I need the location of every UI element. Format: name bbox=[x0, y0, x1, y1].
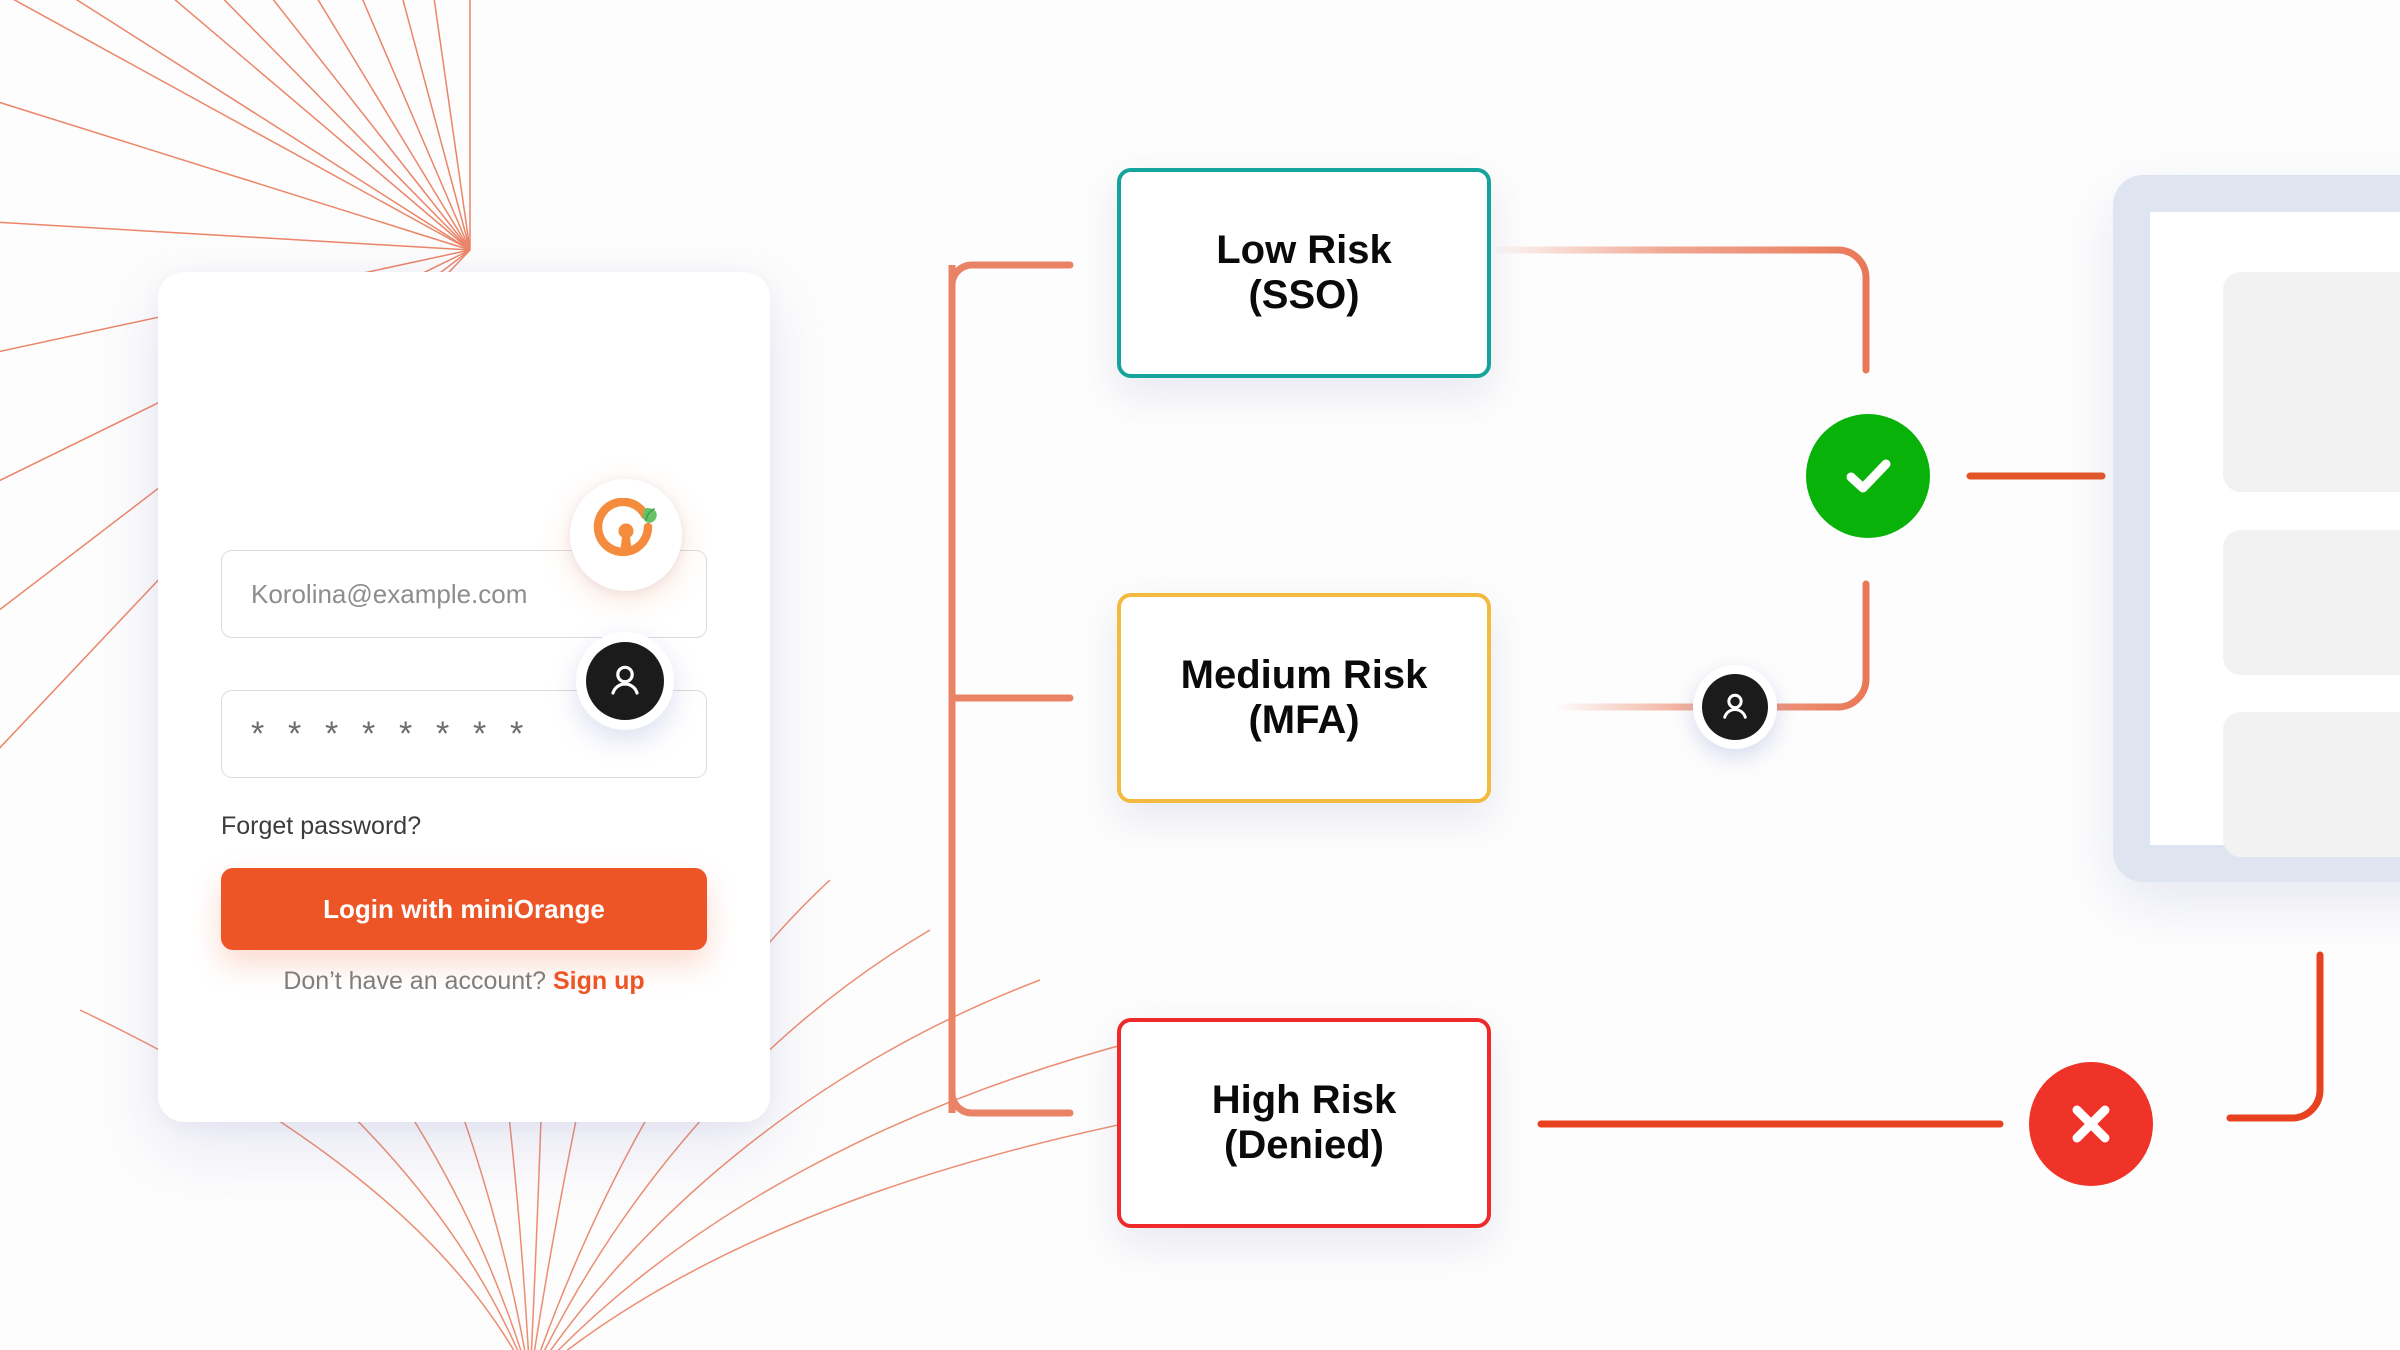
risk-box-medium-title: Medium Risk bbox=[1181, 653, 1428, 698]
signup-link[interactable]: Sign up bbox=[553, 967, 645, 995]
miniorange-keyhole-logo-icon bbox=[589, 498, 663, 572]
status-allowed-badge bbox=[1806, 414, 1930, 538]
status-denied-badge bbox=[2029, 1062, 2153, 1186]
risk-box-high-subtitle: (Denied) bbox=[1224, 1123, 1384, 1168]
target-application-device bbox=[2113, 175, 2400, 882]
device-screen bbox=[2150, 212, 2400, 845]
user-avatar-icon bbox=[604, 660, 646, 702]
device-content-block bbox=[2223, 272, 2400, 492]
signup-prompt-text: Don’t have an account? bbox=[283, 967, 546, 995]
forgot-password-link[interactable]: Forget password? bbox=[221, 812, 421, 841]
risk-box-medium[interactable]: Medium Risk (MFA) bbox=[1117, 593, 1491, 803]
password-mask: **** **** bbox=[251, 717, 547, 751]
close-x-icon bbox=[2061, 1094, 2121, 1154]
risk-box-high[interactable]: High Risk (Denied) bbox=[1117, 1018, 1491, 1228]
risk-box-medium-subtitle: (MFA) bbox=[1248, 698, 1359, 743]
user-avatar-badge bbox=[576, 632, 674, 730]
risk-box-high-title: High Risk bbox=[1212, 1078, 1396, 1123]
miniorange-logo-badge bbox=[570, 479, 682, 591]
signup-row: Don’t have an account? Sign up bbox=[158, 967, 770, 996]
device-content-block bbox=[2223, 712, 2400, 857]
risk-box-low-subtitle: (SSO) bbox=[1248, 273, 1359, 318]
flow-user-node bbox=[1693, 665, 1777, 749]
check-icon bbox=[1835, 443, 1901, 509]
risk-box-low-title: Low Risk bbox=[1216, 228, 1392, 273]
risk-box-low[interactable]: Low Risk (SSO) bbox=[1117, 168, 1491, 378]
user-avatar-icon bbox=[1717, 689, 1753, 725]
login-button[interactable]: Login with miniOrange bbox=[221, 868, 707, 950]
login-card: Login to your Account Korolina@example.c… bbox=[158, 272, 770, 1122]
device-content-block bbox=[2223, 530, 2400, 675]
illustration-canvas: Login to your Account Korolina@example.c… bbox=[0, 0, 2400, 1350]
